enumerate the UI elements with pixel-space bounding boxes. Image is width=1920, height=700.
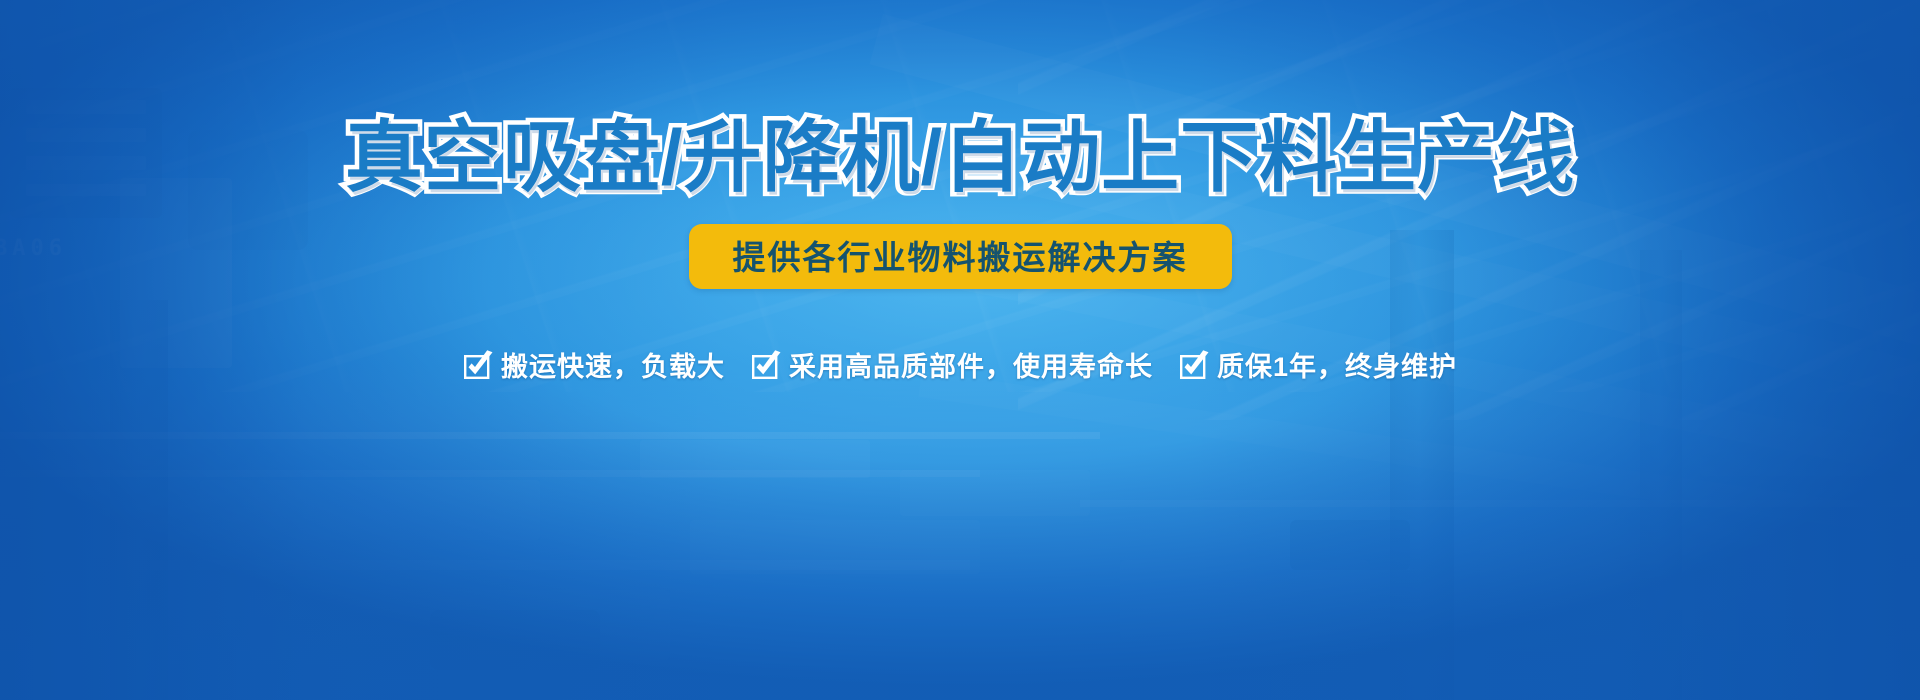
feature-item: 采用高品质部件，使用寿命长 — [751, 345, 1153, 384]
banner-title: 真空吸盘/升降机/自动上下料生产线 — [345, 118, 1575, 196]
check-box-icon — [751, 350, 781, 380]
feature-list: 搬运快速，负载大 采用高品质部件，使用寿命长 — [463, 345, 1457, 384]
check-box-icon — [1179, 350, 1209, 380]
feature-label: 搬运快速，负载大 — [501, 345, 725, 384]
banner-content: 真空吸盘/升降机/自动上下料生产线 提供各行业物料搬运解决方案 搬运快速，负载大 — [0, 0, 1920, 700]
promo-banner: BA06 真空吸盘/升降机/自动上下料生产线 提供各行业物料搬运解决方案 — [0, 0, 1920, 700]
check-box-icon — [463, 350, 493, 380]
banner-subtitle-pill: 提供各行业物料搬运解决方案 — [689, 224, 1232, 289]
feature-label: 质保1年，终身维护 — [1217, 345, 1457, 384]
feature-item: 搬运快速，负载大 — [463, 345, 725, 384]
feature-item: 质保1年，终身维护 — [1179, 345, 1457, 384]
feature-label: 采用高品质部件，使用寿命长 — [789, 345, 1153, 384]
